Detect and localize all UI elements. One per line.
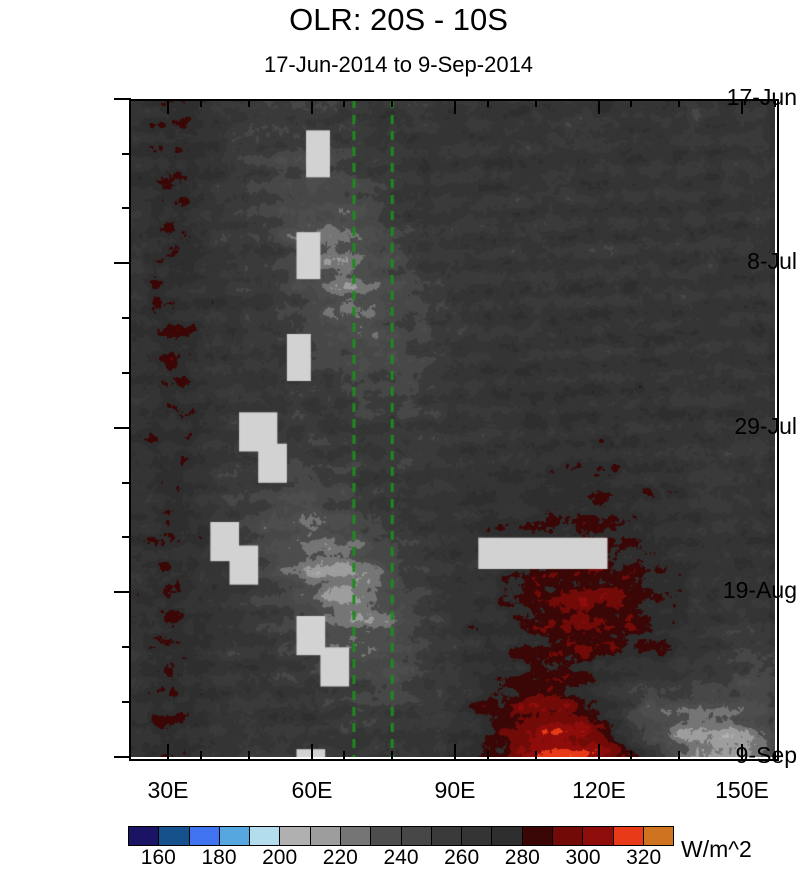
- y-tick-major: [114, 756, 131, 758]
- colorbar-swatch: [462, 827, 492, 845]
- y-tick-minor: [122, 536, 131, 538]
- colorbar-swatch: [190, 827, 220, 845]
- colorbar-swatch: [432, 827, 462, 845]
- colorbar-swatch: [280, 827, 310, 845]
- y-tick-major: [114, 591, 131, 593]
- y-tick-major: [114, 98, 131, 100]
- chart-title: OLR: 20S - 10S: [0, 2, 797, 38]
- x-tick-major: [741, 99, 743, 114]
- colorbar-swatch: [492, 827, 522, 845]
- y-tick-label: 19-Aug: [685, 577, 797, 604]
- x-tick-minor: [391, 99, 393, 107]
- colorbar-swatch: [523, 827, 553, 845]
- colorbar-tick-label: 320: [612, 846, 676, 870]
- colorbar-tick-label: 240: [369, 846, 433, 870]
- y-tick-major: [114, 427, 131, 429]
- x-tick-major: [598, 99, 600, 114]
- x-tick-minor: [487, 751, 489, 759]
- colorbar-swatch: [311, 827, 341, 845]
- y-tick-label: 8-Jul: [685, 248, 797, 275]
- x-tick-minor: [678, 751, 680, 759]
- colorbar[interactable]: [128, 826, 674, 846]
- x-tick-minor: [200, 751, 202, 759]
- x-tick-minor: [678, 99, 680, 107]
- y-tick-minor: [122, 701, 131, 703]
- colorbar-tick-label: 200: [248, 846, 312, 870]
- y-tick-minor: [122, 482, 131, 484]
- colorbar-tick-label: 160: [126, 846, 190, 870]
- x-tick-minor: [248, 751, 250, 759]
- x-tick-major: [454, 744, 456, 759]
- x-tick-minor: [630, 751, 632, 759]
- x-tick-label: 30E: [113, 777, 223, 804]
- hovmoller-plot-area: [129, 99, 775, 757]
- y-tick-minor: [122, 372, 131, 374]
- colorbar-tick-label: 180: [187, 846, 251, 870]
- colorbar-tick-label: 300: [551, 846, 615, 870]
- x-tick-major: [167, 744, 169, 759]
- hovmoller-field: [129, 99, 775, 757]
- x-tick-minor: [535, 99, 537, 107]
- figure-canvas: OLR: 20S - 10S 17-Jun-2014 to 9-Sep-2014…: [0, 0, 797, 869]
- colorbar-swatch: [159, 827, 189, 845]
- x-tick-minor: [248, 99, 250, 107]
- colorbar-tick-label: 220: [308, 846, 372, 870]
- y-tick-minor: [122, 207, 131, 209]
- colorbar-swatch: [644, 827, 673, 845]
- x-tick-major: [598, 744, 600, 759]
- x-tick-major: [741, 744, 743, 759]
- colorbar-swatch: [553, 827, 583, 845]
- x-tick-label: 90E: [400, 777, 510, 804]
- x-tick-minor: [391, 751, 393, 759]
- x-tick-minor: [200, 99, 202, 107]
- x-tick-major: [167, 99, 169, 114]
- x-tick-minor: [774, 99, 776, 107]
- y-tick-minor: [122, 646, 131, 648]
- colorbar-swatch: [583, 827, 613, 845]
- colorbar-tick-label: 280: [490, 846, 554, 870]
- y-tick-minor: [122, 153, 131, 155]
- colorbar-swatch: [250, 827, 280, 845]
- x-tick-minor: [630, 99, 632, 107]
- colorbar-units-label: W/m^2: [681, 836, 752, 863]
- x-tick-minor: [535, 751, 537, 759]
- x-tick-label: 120E: [544, 777, 654, 804]
- y-tick-minor: [122, 317, 131, 319]
- x-tick-minor: [343, 751, 345, 759]
- x-tick-minor: [774, 751, 776, 759]
- x-tick-minor: [487, 99, 489, 107]
- x-tick-major: [311, 744, 313, 759]
- colorbar-swatch: [371, 827, 401, 845]
- x-tick-label: 60E: [257, 777, 367, 804]
- y-tick-major: [114, 262, 131, 264]
- x-tick-label: 150E: [687, 777, 797, 804]
- colorbar-swatch: [220, 827, 250, 845]
- colorbar-swatch: [341, 827, 371, 845]
- x-tick-minor: [343, 99, 345, 107]
- x-tick-major: [454, 99, 456, 114]
- y-tick-label: 29-Jul: [685, 413, 797, 440]
- colorbar-swatch: [402, 827, 432, 845]
- chart-subtitle: 17-Jun-2014 to 9-Sep-2014: [0, 52, 797, 78]
- x-tick-major: [311, 99, 313, 114]
- colorbar-swatch: [614, 827, 644, 845]
- colorbar-tick-label: 260: [430, 846, 494, 870]
- colorbar-swatch: [129, 827, 159, 845]
